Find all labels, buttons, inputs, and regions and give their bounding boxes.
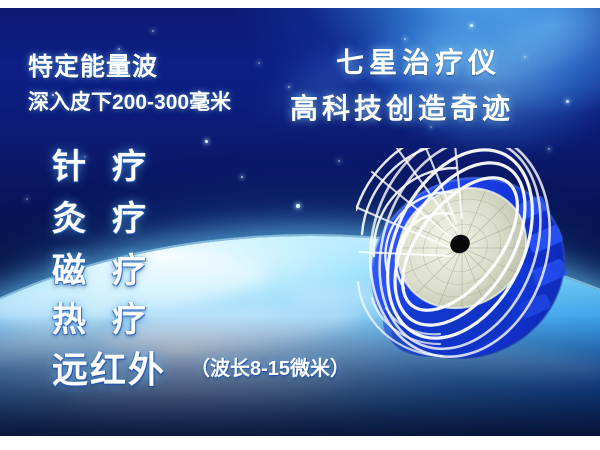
letterbox-bottom — [0, 436, 600, 450]
therapy-item-moxibustion: 灸疗 — [52, 191, 172, 240]
text-overlay: 特定能量波 深入皮下200-300毫米 七星治疗仪 高科技创造奇迹 针疗 灸疗 … — [0, 0, 600, 450]
far-infrared-wavelength-note: （波长8-15微米） — [190, 352, 350, 381]
therapy-item-thermal: 热疗 — [52, 292, 172, 341]
therapy-item-acupuncture: 针疗 — [52, 139, 172, 188]
letterbox-top — [0, 0, 600, 8]
therapy-item-magnetic: 磁疗 — [52, 243, 172, 292]
poster: 特定能量波 深入皮下200-300毫米 七星治疗仪 高科技创造奇迹 针疗 灸疗 … — [0, 0, 600, 450]
far-infrared-label: 远红外 — [52, 341, 166, 393]
